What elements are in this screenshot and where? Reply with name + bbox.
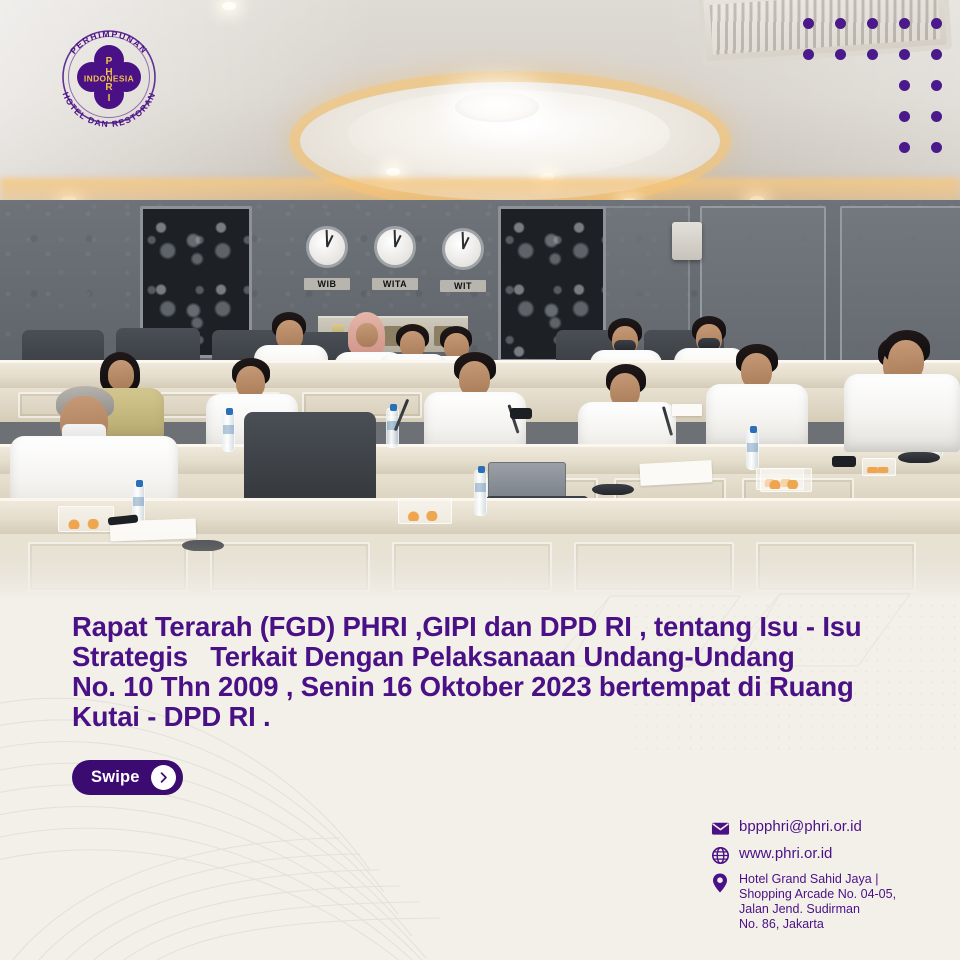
address-line-3: Jalan Jend. Sudirman <box>739 902 896 917</box>
globe-icon <box>710 845 730 865</box>
dot-row <box>803 80 942 91</box>
contact-website-row[interactable]: www.phri.or.id <box>710 845 940 865</box>
wall-clock-wita <box>374 226 416 268</box>
snack-box <box>760 468 812 492</box>
post-canvas: WIB WITA WIT <box>0 0 960 960</box>
location-pin-icon <box>710 873 730 893</box>
svg-text:R: R <box>105 82 113 93</box>
headline-line-2: Strategis Terkait Dengan Pelaksanaan Und… <box>72 642 902 672</box>
svg-text:I: I <box>108 93 111 104</box>
contact-email-row[interactable]: bppphri@phri.or.id <box>710 818 940 838</box>
clock-label-wib: WIB <box>304 278 350 290</box>
clock-label-wit: WIT <box>440 280 486 292</box>
ceiling-light <box>455 92 539 122</box>
address-line-2: Shopping Arcade No. 04-05, <box>739 887 896 902</box>
water-bottle <box>746 430 759 470</box>
address-line-1: Hotel Grand Sahid Jaya | <box>739 872 896 887</box>
wall-speaker <box>672 222 702 260</box>
contact-website-value: www.phri.or.id <box>739 845 832 863</box>
page-title: Rapat Terarah (FGD) PHRI ,GIPI dan DPD R… <box>72 612 902 732</box>
dot-row <box>803 18 942 29</box>
swipe-button[interactable]: Swipe <box>72 760 183 795</box>
dot-row <box>803 49 942 60</box>
contact-address-value: Hotel Grand Sahid Jaya | Shopping Arcade… <box>739 872 896 932</box>
address-line-4: No. 86, Jakarta <box>739 917 896 932</box>
contact-address-row: Hotel Grand Sahid Jaya | Shopping Arcade… <box>710 872 940 932</box>
dot-row <box>803 142 942 153</box>
decorative-dot-grid <box>803 18 942 173</box>
phri-logo: P H R I INDONESIA PERHIMPUNAN HOTEL DAN … <box>48 16 170 138</box>
contact-email-value: bppphri@phri.or.id <box>739 818 862 836</box>
svg-text:P: P <box>106 56 113 67</box>
envelope-icon <box>710 818 730 838</box>
snack-box <box>58 506 114 532</box>
headline-line-1: Rapat Terarah (FGD) PHRI ,GIPI dan DPD R… <box>72 612 902 642</box>
chair-front-empty <box>244 412 376 508</box>
snack-box <box>398 498 452 524</box>
water-bottle <box>222 412 235 452</box>
wall-clock-wit <box>442 228 484 270</box>
chevron-right-icon <box>151 765 176 790</box>
headline-line-4: Kutai - DPD RI . <box>72 702 902 732</box>
laptop <box>488 462 566 498</box>
wall-clock-wib <box>306 226 348 268</box>
water-bottle <box>474 470 487 516</box>
svg-text:INDONESIA: INDONESIA <box>84 74 134 84</box>
dot-row <box>803 111 942 122</box>
snack-box <box>862 458 896 476</box>
clock-label-wita: WITA <box>372 278 418 290</box>
contact-block: bppphri@phri.or.id www.phri.or.id Hote <box>710 818 940 939</box>
swipe-label: Swipe <box>91 768 140 787</box>
headline-line-3: No. 10 Thn 2009 , Senin 16 Oktober 2023 … <box>72 672 902 702</box>
